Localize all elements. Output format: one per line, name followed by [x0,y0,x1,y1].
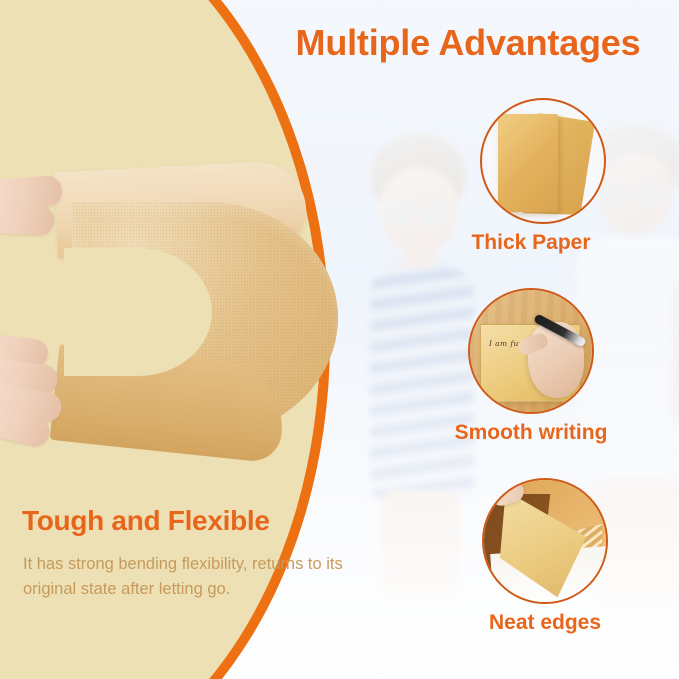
badge-circle: I am fun, and [468,288,594,414]
feature-badge-neat-edges[interactable]: Neat edges [482,478,608,635]
bending-paper-photo [0,150,320,450]
left-panel-description: It has strong bending flexibility, retur… [23,552,353,602]
finger [0,202,55,236]
page-title: Multiple Advantages [262,22,674,64]
hand-lower-fingers [0,336,70,444]
hand-upper-fingers [0,176,66,238]
feature-label-thick-paper: Thick Paper [468,231,594,255]
feature-label-smooth-writing: Smooth writing [436,421,626,445]
top-sheet [498,114,558,212]
stack-of-kraft-sheets-icon [482,100,604,222]
sheet-inner-gap [64,248,212,376]
left-panel-title: Tough and Flexible [22,505,270,537]
badge-circle [480,98,606,224]
feature-badge-thick-paper[interactable]: Thick Paper [480,98,606,255]
feature-label-neat-edges: Neat edges [465,611,625,635]
feature-badge-smooth-writing[interactable]: I am fun, and Smooth writing [468,288,594,445]
badge-circle [482,478,608,604]
product-infographic-poster: Multiple Advantages Tough and Flexible I… [0,0,679,679]
